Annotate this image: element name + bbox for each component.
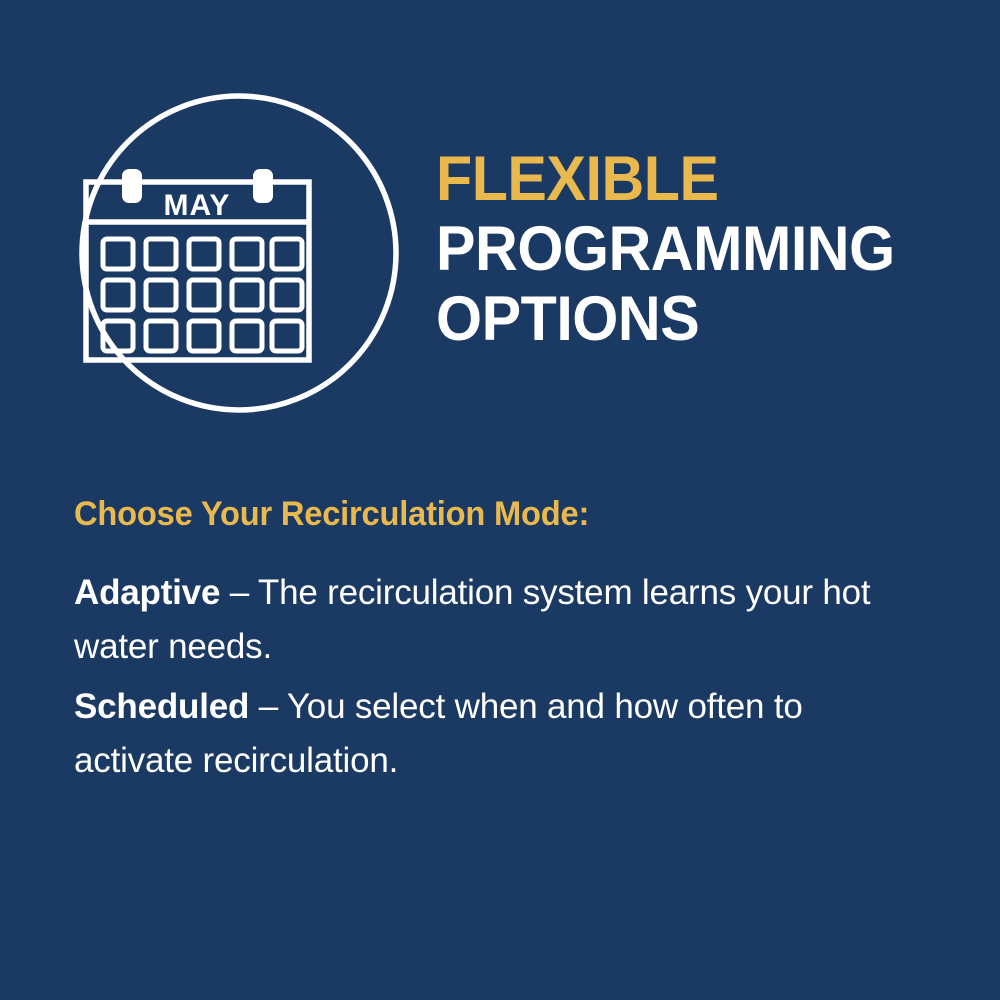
flexible-programming-options-card: MAY <box>0 0 1000 1000</box>
recirculation-mode-subheading: Choose Your Recirculation Mode: <box>74 492 919 536</box>
calendar-day-cell <box>189 321 219 351</box>
calendar-day-cell <box>189 239 219 269</box>
calendar-day-cell <box>272 280 302 310</box>
circle-outline <box>82 96 396 410</box>
calendar-day-cell <box>232 239 262 269</box>
calendar-day-cell <box>146 239 176 269</box>
calendar-ring-left <box>122 169 142 203</box>
mode-item-scheduled: Scheduled – You select when and how ofte… <box>74 680 904 788</box>
page-title-line-1: FLEXIBLE <box>436 144 944 214</box>
calendar-icon-graphic: MAY <box>76 92 402 418</box>
page-title: FLEXIBLE PROGRAMMING OPTIONS <box>436 144 976 354</box>
calendar-day-cell <box>232 280 262 310</box>
hero-section: MAY <box>0 0 1000 460</box>
calendar-day-cell <box>272 321 302 351</box>
body-section: Choose Your Recirculation Mode: Adaptive… <box>74 492 954 794</box>
mode-separator-scheduled: – <box>249 687 287 726</box>
calendar-day-cell <box>146 280 176 310</box>
calendar-day-cell <box>272 239 302 269</box>
calendar-month-label: MAY <box>164 189 231 222</box>
calendar-icon: MAY <box>76 92 402 418</box>
mode-name-adaptive: Adaptive <box>74 573 220 612</box>
mode-item-adaptive: Adaptive – The recirculation system lear… <box>74 566 904 674</box>
calendar-day-cell <box>232 321 262 351</box>
calendar-day-cell <box>103 280 133 310</box>
page-title-line-2: PROGRAMMING <box>436 214 944 284</box>
calendar-day-cell <box>146 321 176 351</box>
page-title-line-3: OPTIONS <box>436 284 944 354</box>
mode-separator-adaptive: – <box>220 573 258 612</box>
calendar-day-grid <box>103 239 302 351</box>
mode-name-scheduled: Scheduled <box>74 687 249 726</box>
calendar-day-cell <box>103 239 133 269</box>
calendar-day-cell <box>189 280 219 310</box>
calendar-ring-right <box>253 169 273 203</box>
